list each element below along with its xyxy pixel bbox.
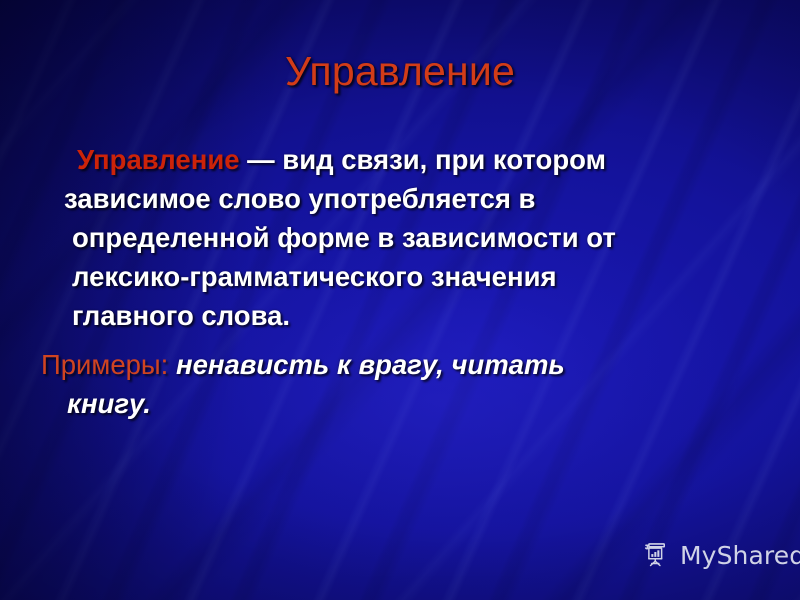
- definition-line-5: главного слова.: [72, 296, 800, 335]
- definition-keyword: Управление: [77, 144, 240, 175]
- definition-line-4: лексико-грамматического значения: [72, 257, 800, 296]
- slide-content: Управление Управление — вид связи, при к…: [0, 0, 800, 600]
- myshared-label: MyShared: [680, 541, 800, 570]
- examples-line-2: книгу.: [67, 384, 800, 423]
- examples-text: ненависть к врагу, читать: [168, 349, 564, 380]
- examples-label: Примеры:: [41, 349, 168, 380]
- slide-title: Управление: [0, 48, 800, 95]
- definition-line-1: Управление — вид связи, при котором: [77, 140, 800, 179]
- definition-line-2: зависимое слово употребляется в: [64, 179, 800, 218]
- definition-line-3: определенной форме в зависимости от: [72, 218, 800, 257]
- definition-line-1-rest: — вид связи, при котором: [240, 144, 606, 175]
- slide-body: Управление — вид связи, при котором зави…: [0, 140, 800, 423]
- examples-line-1: Примеры: ненависть к врагу, читать: [41, 345, 800, 384]
- presentation-slide: Управление Управление — вид связи, при к…: [0, 0, 800, 600]
- presentation-chart-easel-icon: [641, 540, 671, 570]
- myshared-watermark: MyShared: [641, 540, 800, 570]
